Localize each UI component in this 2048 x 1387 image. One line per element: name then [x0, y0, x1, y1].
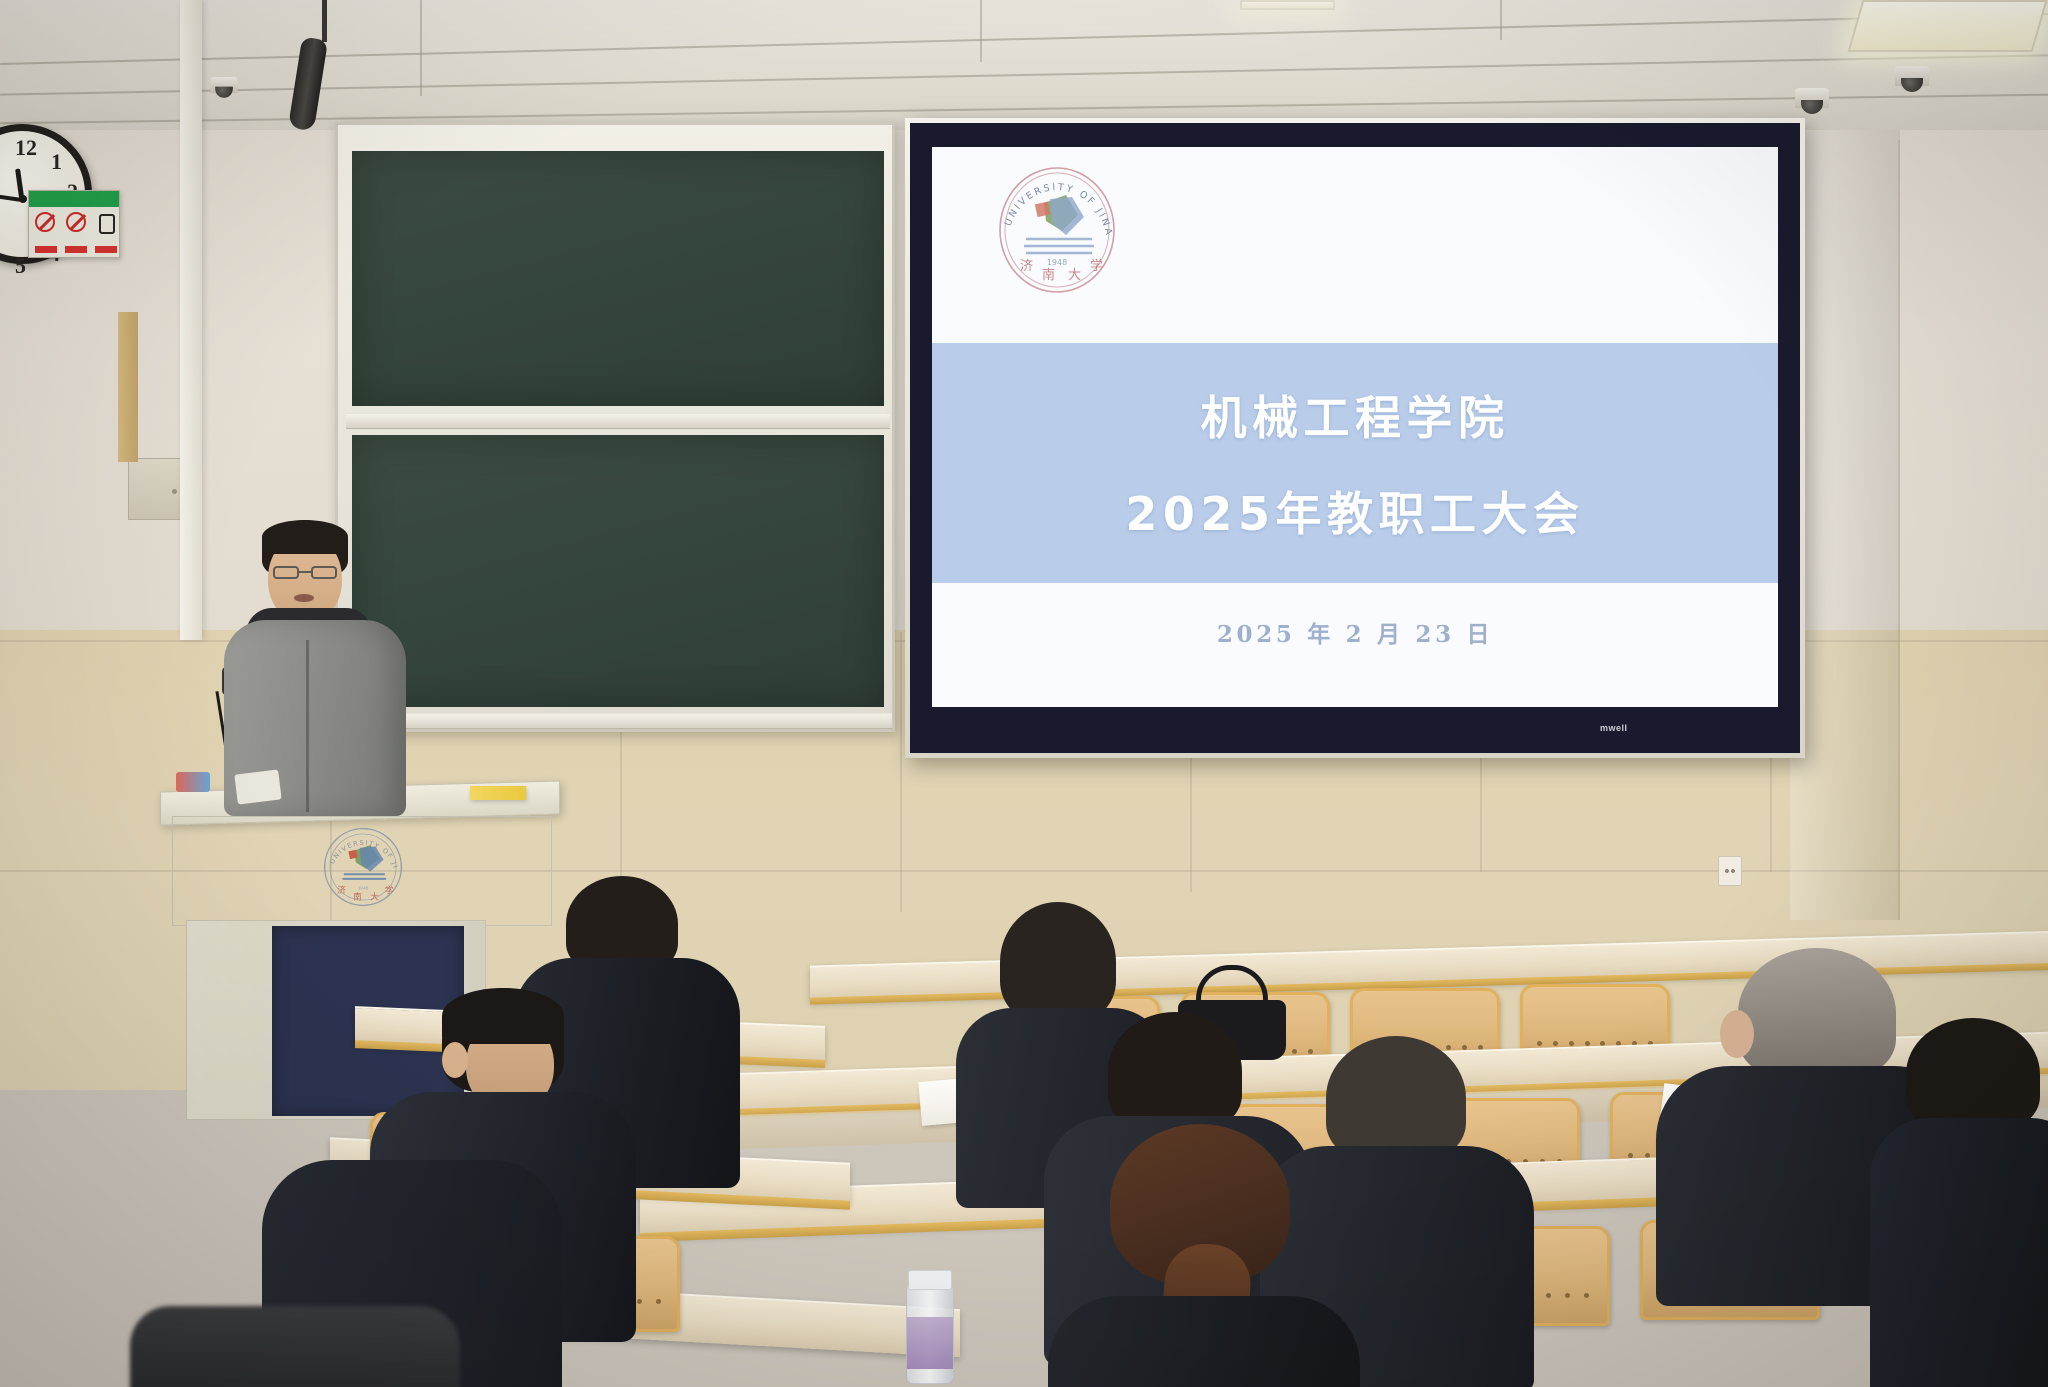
attendee-hair [1108, 1012, 1242, 1130]
presenter-at-lectern [210, 520, 420, 810]
speaker-mount-rod [322, 0, 327, 42]
clock-numeral: 1 [51, 149, 62, 175]
fluorescent-panel-light [1848, 0, 2048, 52]
dome-security-camera-icon [210, 77, 237, 93]
slide-date: 2025 年 2 月 23 日 [932, 615, 1778, 649]
water-bottle [906, 1284, 954, 1384]
presenter-mouth [294, 594, 314, 602]
presentation-slide: UNIVERSITY OF JINAN 1948 [932, 147, 1778, 707]
jacket-zipper [306, 640, 309, 812]
wall-pillar-trim [180, 0, 202, 640]
svg-text:济: 济 [337, 884, 346, 896]
eyeglasses-right-lens [311, 566, 337, 579]
attendee-hair-gray [1738, 948, 1896, 1078]
projection-screen: UNIVERSITY OF JINAN 1948 [905, 118, 1805, 758]
eyeglasses-bridge [299, 571, 311, 573]
sticky-note [470, 786, 526, 800]
screen-brand-label: mwell [1600, 723, 1628, 733]
chalk-tray [344, 713, 892, 729]
bottle-cap [908, 1270, 952, 1290]
svg-text:大: 大 [370, 890, 379, 902]
dome-security-camera-icon [1895, 66, 1929, 86]
ceiling-tile-seam [980, 0, 982, 62]
wood-wall-strip [118, 312, 138, 462]
sign-icon-row [29, 209, 119, 235]
presenter-hairline [262, 520, 348, 554]
foreground-blur [130, 1306, 460, 1387]
sign-label-strip [65, 246, 87, 253]
attendee-coat [1048, 1296, 1360, 1387]
svg-text:1948: 1948 [358, 885, 369, 890]
attendee-hair [1906, 1018, 2040, 1130]
lectern-seal: UNIVERSITY OF JINAN 1948 济南 大学 [320, 824, 406, 910]
bottle-label [907, 1317, 953, 1369]
safety-notice-sign [28, 190, 120, 258]
svg-text:1948: 1948 [1047, 258, 1067, 267]
presenter-papers [234, 769, 281, 804]
chalkboard-panel-lower [352, 435, 884, 707]
screen-bezel: UNIVERSITY OF JINAN 1948 [910, 123, 1800, 753]
fluorescent-panel-light [1240, 0, 1335, 10]
attendee-back-right [1886, 1018, 2048, 1387]
column-edge [1898, 140, 1900, 920]
ceiling-tile-seam [420, 0, 422, 96]
attendee-ear [442, 1042, 468, 1078]
chalkboard-panel-upper [352, 151, 884, 406]
chalkboard-mid-rail [346, 413, 890, 429]
svg-text:学: 学 [1090, 258, 1103, 274]
wall-tile-seam [900, 632, 902, 912]
fire-extinguisher-icon [97, 212, 113, 232]
attendee-coat [1870, 1118, 2048, 1387]
sign-label-strip [35, 246, 57, 253]
svg-text:济: 济 [1020, 259, 1033, 274]
electrical-junction-box [128, 458, 186, 520]
desk-props [176, 772, 210, 792]
sign-label-strip [95, 246, 117, 253]
svg-text:南: 南 [1042, 267, 1055, 283]
clock-numeral: 5 [15, 253, 26, 279]
attendee-front-ponytail [1052, 1124, 1352, 1387]
university-of-jinan-seal: UNIVERSITY OF JINAN 1948 [992, 165, 1122, 295]
svg-text:南: 南 [353, 890, 362, 902]
svg-text:大: 大 [1068, 268, 1081, 283]
wall-column [1790, 130, 1900, 920]
no-smoking-icon [66, 212, 86, 232]
classroom-photo: 12 1 2 3 4 5 [0, 0, 2048, 1387]
slide-title-block: 机械工程学院 2025年教职工大会 [932, 343, 1778, 583]
ceiling-tile-seam [1500, 0, 1502, 40]
clock-numeral: 12 [15, 135, 37, 161]
dome-security-camera-icon [1795, 88, 1829, 108]
svg-text:学: 学 [385, 884, 394, 896]
eyeglasses-left-lens [273, 566, 299, 579]
slide-title-line-1: 机械工程学院 [1200, 382, 1509, 448]
slide-title-line-2: 2025年教职工大会 [1125, 478, 1584, 544]
wall-power-outlet[interactable] [1718, 856, 1742, 886]
attendee-hair [1000, 902, 1116, 1022]
attendee-ear [1720, 1010, 1754, 1058]
clock-center-pin [19, 195, 27, 203]
sign-header-band [29, 191, 119, 207]
attendee-hairline [442, 988, 564, 1044]
no-smoking-icon [35, 212, 55, 232]
